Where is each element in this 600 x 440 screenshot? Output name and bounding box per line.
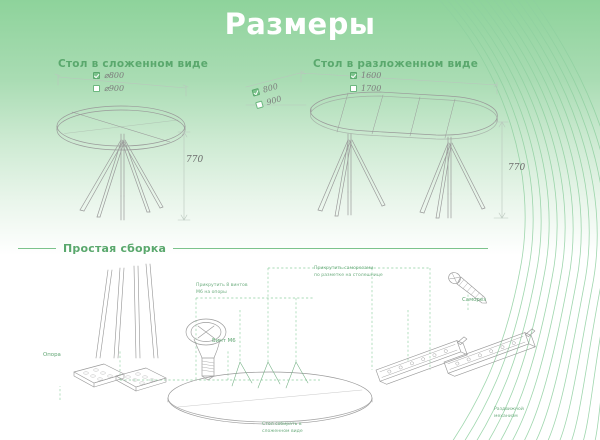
- option-label: 1700: [361, 84, 381, 93]
- option-label: ⌀800: [104, 71, 124, 80]
- annotation-support: Опора: [43, 352, 61, 360]
- option-group-folded-diameter: ⌀800 ⌀900: [93, 70, 124, 96]
- option-group-unfolded-length: 1600 1700: [350, 70, 381, 96]
- option-row[interactable]: 1700: [350, 83, 381, 94]
- option-label: 800: [262, 82, 279, 95]
- option-label: 900: [265, 94, 282, 107]
- divider-left: [18, 248, 56, 249]
- assembly-heading-row: Простая сборка: [18, 240, 488, 256]
- annotation-self-tapping: Прикрутить саморезами по разметке на сто…: [314, 266, 383, 279]
- annotation-screws: Прикрутить 8 винтов М6 на опоры: [196, 283, 248, 296]
- page-root: Размеры Стол в сложенном виде Стол в раз…: [0, 0, 600, 440]
- checkbox-unchecked-icon[interactable]: [350, 85, 357, 92]
- dimension-height-folded: 770: [186, 155, 203, 165]
- option-label: ⌀900: [104, 84, 124, 93]
- dimension-height-unfolded: 770: [508, 163, 525, 173]
- assembly-heading: Простая сборка: [63, 242, 166, 255]
- checkbox-checked-icon[interactable]: [350, 72, 357, 79]
- option-row[interactable]: ⌀800: [93, 70, 124, 81]
- checkbox-checked-icon[interactable]: [93, 72, 100, 79]
- checkbox-unchecked-icon[interactable]: [93, 85, 100, 92]
- option-row[interactable]: 1600: [350, 70, 381, 81]
- divider-right: [173, 248, 488, 249]
- option-row[interactable]: ⌀900: [93, 83, 124, 94]
- option-label: 1600: [361, 71, 381, 80]
- annotation-mechanism: Раздвижной механизм: [494, 407, 524, 420]
- annotation-fold-view-note: Стол собирать в сложенном виде: [262, 422, 303, 435]
- annotation-bolt: Винт М6: [212, 338, 236, 346]
- checkbox-unchecked-icon[interactable]: [255, 100, 264, 109]
- annotation-screw: Саморез: [462, 297, 486, 305]
- page-title: Размеры: [0, 7, 600, 41]
- checkbox-checked-icon[interactable]: [252, 88, 261, 97]
- section-heading-unfolded: Стол в разложенном виде: [313, 58, 478, 70]
- section-heading-folded: Стол в сложенном виде: [58, 58, 208, 70]
